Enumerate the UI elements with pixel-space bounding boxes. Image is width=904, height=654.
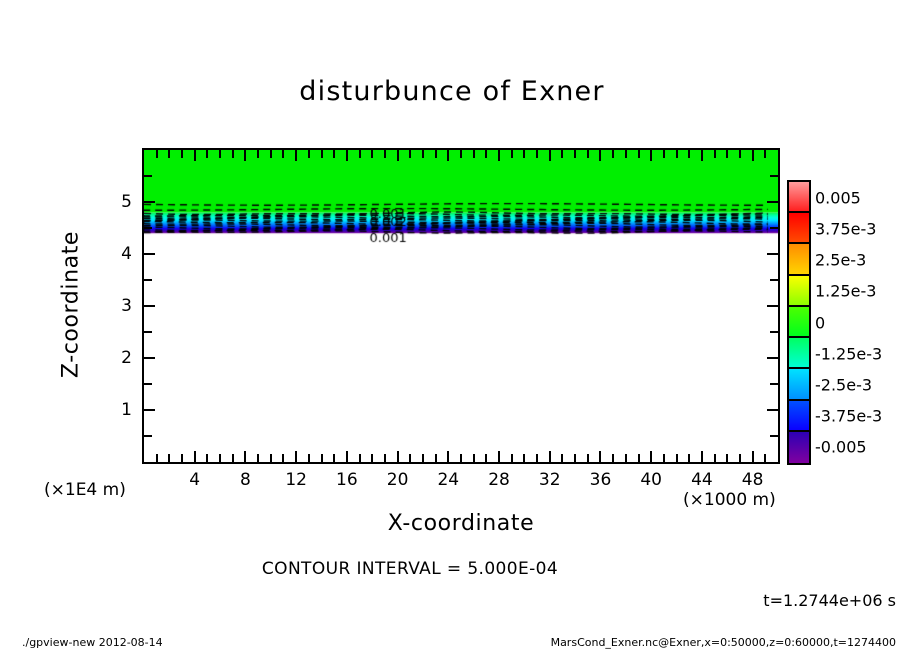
x-tick-top-1 <box>156 150 158 158</box>
x-tick-19 <box>384 454 386 462</box>
x-tick-43 <box>688 454 690 462</box>
x-tick-17 <box>359 454 361 462</box>
x-tick-top-48 <box>752 150 754 161</box>
x-tick-top-44 <box>701 150 703 161</box>
x-tick-top-37 <box>612 150 614 158</box>
time-annotation: t=1.2744e+06 s <box>0 591 896 610</box>
y-tick-0.5 <box>144 435 152 437</box>
x-tick-42 <box>676 454 678 462</box>
x-tick-37 <box>612 454 614 462</box>
y-axis-title: Z-coordinate <box>59 205 84 405</box>
footer-source: MarsCond_Exner.nc@Exner,x=0:50000,z=0:60… <box>551 636 896 649</box>
x-tick-top-4 <box>194 150 196 161</box>
x-tick-top-12 <box>295 150 297 161</box>
x-tick-top-30 <box>523 150 525 158</box>
colorbar-label-4: 0 <box>815 313 825 332</box>
x-tick-top-31 <box>536 150 538 158</box>
x-tick-33 <box>561 454 563 462</box>
x-tick-top-19 <box>384 150 386 158</box>
colorbar-label-7: -3.75e-3 <box>815 407 882 426</box>
x-axis-unit-label: (×1000 m) <box>683 490 776 510</box>
x-tick-top-13 <box>308 150 310 158</box>
colorbar-label-6: -2.5e-3 <box>815 375 872 394</box>
x-tick-top-45 <box>714 150 716 158</box>
colorbar-band-3 <box>789 276 809 307</box>
colorbar-band-7 <box>789 401 809 432</box>
y-tick-right-4.5 <box>770 227 778 229</box>
x-tick-1 <box>156 454 158 462</box>
y-tick-label-4: 4 <box>104 244 132 264</box>
y-tick-label-1: 1 <box>104 400 132 420</box>
x-tick-48 <box>752 451 754 462</box>
x-tick-top-49 <box>764 150 766 158</box>
x-tick-45 <box>714 454 716 462</box>
x-tick-4 <box>194 451 196 462</box>
x-tick-top-2 <box>168 150 170 158</box>
x-tick-top-17 <box>359 150 361 158</box>
x-tick-15 <box>333 454 335 462</box>
x-tick-25 <box>460 454 462 462</box>
plot-area <box>142 148 780 464</box>
colorbar-label-1: 3.75e-3 <box>815 219 876 238</box>
colorbar-band-1 <box>789 213 809 244</box>
contour-interval-note: CONTOUR INTERVAL = 5.000E-04 <box>0 559 820 579</box>
x-tick-label-16: 16 <box>336 470 358 490</box>
x-tick-top-35 <box>587 150 589 158</box>
x-tick-7 <box>232 454 234 462</box>
x-tick-20 <box>397 451 399 462</box>
colorbar-band-4 <box>789 307 809 338</box>
x-tick-46 <box>726 454 728 462</box>
x-tick-top-6 <box>219 150 221 158</box>
x-tick-label-8: 8 <box>240 470 251 490</box>
colorbar-label-2: 2.5e-3 <box>815 251 866 270</box>
y-tick-label-2: 2 <box>104 348 132 368</box>
x-tick-2 <box>168 454 170 462</box>
x-tick-38 <box>625 454 627 462</box>
y-tick-5 <box>144 201 155 203</box>
y-tick-right-1.5 <box>770 383 778 385</box>
y-tick-right-1 <box>767 409 778 411</box>
x-tick-24 <box>447 451 449 462</box>
x-tick-9 <box>257 454 259 462</box>
x-tick-top-34 <box>574 150 576 158</box>
colorbar-label-3: 1.25e-3 <box>815 282 876 301</box>
x-tick-label-48: 48 <box>742 470 764 490</box>
x-tick-40 <box>650 451 652 462</box>
x-tick-label-20: 20 <box>387 470 409 490</box>
x-tick-16 <box>346 451 348 462</box>
x-tick-top-20 <box>397 150 399 161</box>
x-tick-label-28: 28 <box>488 470 510 490</box>
y-tick-3 <box>144 305 155 307</box>
y-tick-right-3.5 <box>770 279 778 281</box>
x-tick-top-29 <box>511 150 513 158</box>
x-tick-36 <box>599 451 601 462</box>
y-tick-label-3: 3 <box>104 296 132 316</box>
x-tick-label-24: 24 <box>437 470 459 490</box>
x-tick-top-26 <box>473 150 475 158</box>
x-tick-top-25 <box>460 150 462 158</box>
x-tick-10 <box>270 454 272 462</box>
x-tick-top-28 <box>498 150 500 161</box>
y-tick-right-3 <box>767 305 778 307</box>
y-tick-5.5 <box>144 175 152 177</box>
x-tick-top-24 <box>447 150 449 161</box>
x-tick-top-33 <box>561 150 563 158</box>
x-tick-top-18 <box>371 150 373 158</box>
x-tick-top-21 <box>409 150 411 158</box>
x-tick-31 <box>536 454 538 462</box>
x-tick-14 <box>321 454 323 462</box>
y-tick-right-2 <box>767 357 778 359</box>
x-tick-label-4: 4 <box>189 470 200 490</box>
page-title: disturbunce of Exner <box>0 76 904 107</box>
colorbar-band-8 <box>789 432 809 463</box>
x-tick-top-8 <box>244 150 246 161</box>
x-tick-22 <box>422 454 424 462</box>
x-tick-49 <box>764 454 766 462</box>
y-tick-4 <box>144 253 155 255</box>
x-tick-5 <box>206 454 208 462</box>
x-tick-top-38 <box>625 150 627 158</box>
x-tick-label-44: 44 <box>691 470 713 490</box>
x-tick-top-10 <box>270 150 272 158</box>
x-tick-23 <box>435 454 437 462</box>
y-tick-3.5 <box>144 279 152 281</box>
y-tick-1 <box>144 409 155 411</box>
x-tick-32 <box>549 451 551 462</box>
colorbar-band-6 <box>789 369 809 400</box>
x-tick-18 <box>371 454 373 462</box>
y-tick-label-5: 5 <box>104 192 132 212</box>
x-tick-top-47 <box>739 150 741 158</box>
x-tick-top-16 <box>346 150 348 161</box>
x-tick-28 <box>498 451 500 462</box>
y-tick-2.5 <box>144 331 152 333</box>
y-tick-right-2.5 <box>770 331 778 333</box>
y-tick-right-5 <box>767 201 778 203</box>
x-tick-top-15 <box>333 150 335 158</box>
colorbar-band-2 <box>789 244 809 275</box>
x-tick-top-22 <box>422 150 424 158</box>
x-tick-top-14 <box>321 150 323 158</box>
x-tick-top-39 <box>638 150 640 158</box>
x-tick-top-23 <box>435 150 437 158</box>
x-tick-top-7 <box>232 150 234 158</box>
x-axis-title: X-coordinate <box>142 511 780 536</box>
x-tick-29 <box>511 454 513 462</box>
colorbar <box>787 180 811 465</box>
x-tick-13 <box>308 454 310 462</box>
x-tick-top-41 <box>663 150 665 158</box>
x-tick-44 <box>701 451 703 462</box>
x-tick-label-40: 40 <box>640 470 662 490</box>
x-tick-6 <box>219 454 221 462</box>
x-tick-21 <box>409 454 411 462</box>
y-tick-right-0.5 <box>770 435 778 437</box>
colorbar-band-0 <box>789 182 809 213</box>
y-tick-2 <box>144 357 155 359</box>
x-tick-top-40 <box>650 150 652 161</box>
x-tick-47 <box>739 454 741 462</box>
y-tick-4.5 <box>144 227 152 229</box>
y-tick-right-4 <box>767 253 778 255</box>
colorbar-label-0: 0.005 <box>815 188 861 207</box>
contour-field-canvas <box>144 150 778 462</box>
x-tick-label-12: 12 <box>285 470 307 490</box>
x-tick-top-3 <box>181 150 183 158</box>
footer-command: ./gpview-new 2012-08-14 <box>22 636 163 649</box>
x-tick-top-42 <box>676 150 678 158</box>
x-tick-top-11 <box>282 150 284 158</box>
x-tick-top-9 <box>257 150 259 158</box>
x-tick-top-5 <box>206 150 208 158</box>
x-tick-top-27 <box>485 150 487 158</box>
x-tick-top-32 <box>549 150 551 161</box>
x-tick-8 <box>244 451 246 462</box>
y-axis-unit-label: (×1E4 m) <box>44 480 126 500</box>
x-tick-35 <box>587 454 589 462</box>
x-tick-3 <box>181 454 183 462</box>
x-tick-top-43 <box>688 150 690 158</box>
colorbar-label-5: -1.25e-3 <box>815 344 882 363</box>
x-tick-39 <box>638 454 640 462</box>
x-tick-11 <box>282 454 284 462</box>
colorbar-band-5 <box>789 338 809 369</box>
x-tick-12 <box>295 451 297 462</box>
plot-page: disturbunce of Exner 4812162024283236404… <box>0 0 904 654</box>
x-tick-label-32: 32 <box>539 470 561 490</box>
x-tick-41 <box>663 454 665 462</box>
colorbar-label-8: -0.005 <box>815 438 867 457</box>
y-tick-right-5.5 <box>770 175 778 177</box>
x-tick-26 <box>473 454 475 462</box>
x-tick-top-36 <box>599 150 601 161</box>
x-tick-30 <box>523 454 525 462</box>
x-tick-label-36: 36 <box>590 470 612 490</box>
x-tick-27 <box>485 454 487 462</box>
x-tick-top-46 <box>726 150 728 158</box>
y-tick-1.5 <box>144 383 152 385</box>
x-tick-34 <box>574 454 576 462</box>
